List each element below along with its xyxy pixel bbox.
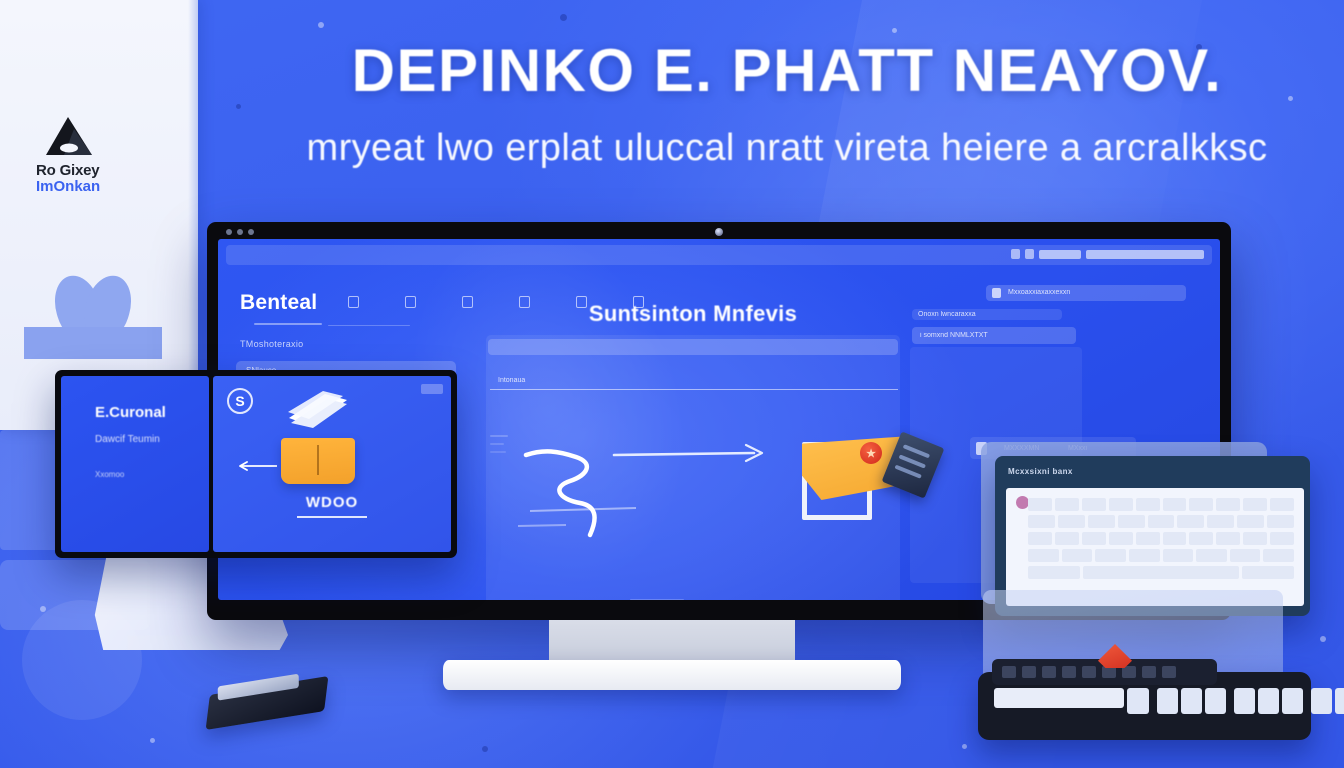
keyboard-console-icon xyxy=(978,672,1311,740)
monitor-stand-base xyxy=(443,660,901,690)
topbar-pill[interactable] xyxy=(1086,250,1204,259)
center-progress-bar[interactable] xyxy=(488,339,898,355)
key xyxy=(1055,532,1079,545)
key xyxy=(1028,566,1080,579)
key xyxy=(1335,688,1344,714)
bezel-dot-icon xyxy=(226,229,232,235)
divider xyxy=(254,323,322,325)
key xyxy=(1028,532,1052,545)
screen-topbar[interactable] xyxy=(226,245,1212,265)
page-subtitle: mryeat lwo erplat uluccal nratt vireta h… xyxy=(232,127,1342,170)
laptop-left-screen: E.Curonal Dawcif Teumin Xxomoo xyxy=(61,376,209,552)
monitor-stand-neck xyxy=(549,620,795,665)
laptop-device: E.Curonal Dawcif Teumin Xxomoo S WDOO xyxy=(55,370,457,558)
key xyxy=(1082,532,1106,545)
key xyxy=(1083,566,1239,579)
window-icon[interactable] xyxy=(1011,249,1020,259)
field-label: Intonaua xyxy=(498,377,525,384)
laptop-screen-subtitle: Dawcif Teumin xyxy=(95,434,160,445)
key xyxy=(1270,498,1294,511)
key xyxy=(1258,688,1279,714)
envelope-icon: ★ xyxy=(798,430,948,530)
red-seal-icon: ★ xyxy=(860,442,882,464)
key xyxy=(1243,532,1267,545)
key xyxy=(1263,549,1294,562)
window-icon[interactable] xyxy=(1025,249,1034,259)
key xyxy=(1163,532,1187,545)
key xyxy=(1230,549,1261,562)
bezel-indicator-dots xyxy=(226,229,254,235)
speck xyxy=(150,738,155,743)
key xyxy=(1205,688,1226,714)
key xyxy=(1189,498,1213,511)
laptop-screen-caption: Xxomoo xyxy=(95,470,124,479)
key xyxy=(1189,532,1213,545)
key xyxy=(1118,515,1145,528)
arrow-left-icon xyxy=(237,458,279,468)
key xyxy=(1270,532,1294,545)
key xyxy=(1267,515,1294,528)
app-title: Benteal xyxy=(240,291,317,315)
key xyxy=(1148,515,1175,528)
key xyxy=(1095,549,1126,562)
key xyxy=(1163,549,1194,562)
fn-key-icon xyxy=(1002,666,1016,678)
stacked-papers-icon xyxy=(285,390,351,430)
keyboard-icon xyxy=(1028,498,1294,598)
speck xyxy=(318,22,324,28)
squiggle-line-icon xyxy=(518,431,818,551)
speck xyxy=(962,744,967,749)
key xyxy=(1157,688,1178,714)
flag-icon[interactable] xyxy=(462,296,473,308)
key xyxy=(1163,498,1187,511)
key xyxy=(1282,688,1303,714)
left-side-panel: Ro Gixey ImOnkan xyxy=(0,0,198,430)
key xyxy=(1082,498,1106,511)
spacebar-icon xyxy=(994,688,1124,708)
brand-sub: ImOnkan xyxy=(36,179,166,195)
speck xyxy=(1320,636,1326,642)
key xyxy=(1129,549,1160,562)
key xyxy=(1177,515,1204,528)
speck xyxy=(560,14,567,21)
key xyxy=(1136,532,1160,545)
key xyxy=(1109,532,1133,545)
fn-key-icon xyxy=(1142,666,1156,678)
faint-text-line xyxy=(490,443,504,445)
yellow-card-icon xyxy=(281,438,355,484)
panel-row-label: Onoxn lwncaraxxa xyxy=(918,311,976,318)
right-window-body xyxy=(1006,488,1304,606)
key xyxy=(1216,498,1240,511)
topbar-right-group xyxy=(1011,249,1204,259)
fn-key-icon xyxy=(1042,666,1056,678)
key xyxy=(1216,532,1240,545)
faint-text-line xyxy=(490,451,506,453)
key xyxy=(1109,498,1133,511)
spacebar-group xyxy=(994,688,1149,714)
key-row xyxy=(1028,566,1294,579)
key-row xyxy=(1028,498,1294,511)
s-badge-icon: S xyxy=(227,388,253,414)
speck xyxy=(482,746,488,752)
key-row xyxy=(1028,549,1294,562)
key-row xyxy=(1028,532,1294,545)
key xyxy=(1181,688,1202,714)
key xyxy=(1028,498,1052,511)
tablet-label-underline xyxy=(297,516,367,518)
key xyxy=(1311,688,1332,714)
mountain-logo-icon xyxy=(42,115,96,159)
bezel-dot-icon xyxy=(248,229,254,235)
fn-key-icon xyxy=(1062,666,1076,678)
key xyxy=(1207,515,1234,528)
doc-icon xyxy=(992,288,1001,298)
webcam-icon xyxy=(715,228,723,236)
key xyxy=(1196,549,1227,562)
key xyxy=(1088,515,1115,528)
key xyxy=(1243,498,1267,511)
field-underline xyxy=(490,389,898,390)
right-window-title: Mcxxsixni banx xyxy=(1008,467,1073,476)
fn-key-icon xyxy=(1022,666,1036,678)
brand-name: Ro Gixey xyxy=(36,163,166,179)
key-row xyxy=(1028,515,1294,528)
speck xyxy=(892,28,897,33)
faint-text-line xyxy=(630,599,684,600)
tablet-label: WDOO xyxy=(213,494,451,511)
key xyxy=(1127,688,1149,714)
key xyxy=(1136,498,1160,511)
page-title: DEPINKO E. PHATT NEAYOV. xyxy=(232,36,1342,105)
hero-text-block: DEPINKO E. PHATT NEAYOV. mryeat lwo erpl… xyxy=(232,36,1342,170)
panel-row-label: i somxnd NNMLXTXT xyxy=(920,332,988,339)
key xyxy=(1062,549,1093,562)
fn-key-icon xyxy=(1082,666,1096,678)
console-key-groups xyxy=(994,688,1297,714)
plant-decoration-icon xyxy=(24,275,164,355)
bezel-dot-icon xyxy=(237,229,243,235)
user-icon[interactable] xyxy=(405,296,416,308)
section-title: Suntsinton Mnfevis xyxy=(486,301,900,327)
key xyxy=(1242,566,1294,579)
window-corner-icon[interactable] xyxy=(421,384,443,394)
grid-icon[interactable] xyxy=(348,296,359,308)
plant-pot xyxy=(24,327,162,359)
app-caption: TMoshoteraxio xyxy=(240,339,303,349)
key xyxy=(1058,515,1085,528)
key xyxy=(1028,549,1059,562)
topbar-pill[interactable] xyxy=(1039,250,1081,259)
key xyxy=(1234,688,1255,714)
key xyxy=(1028,515,1055,528)
fn-key-icon xyxy=(1162,666,1176,678)
key xyxy=(1237,515,1264,528)
tablet-right-screen: S WDOO xyxy=(213,376,451,552)
key-group xyxy=(1234,688,1303,714)
key-group xyxy=(1311,688,1344,714)
faint-text-line xyxy=(490,435,508,437)
key-group xyxy=(1157,688,1226,714)
laptop-screen-title: E.Curonal xyxy=(95,404,166,421)
key xyxy=(1055,498,1079,511)
brand-logo: Ro Gixey ImOnkan xyxy=(36,115,166,195)
card-line xyxy=(894,465,921,479)
panel-row-label: Mxxoaxxiaxaxxexxn xyxy=(1008,289,1070,296)
